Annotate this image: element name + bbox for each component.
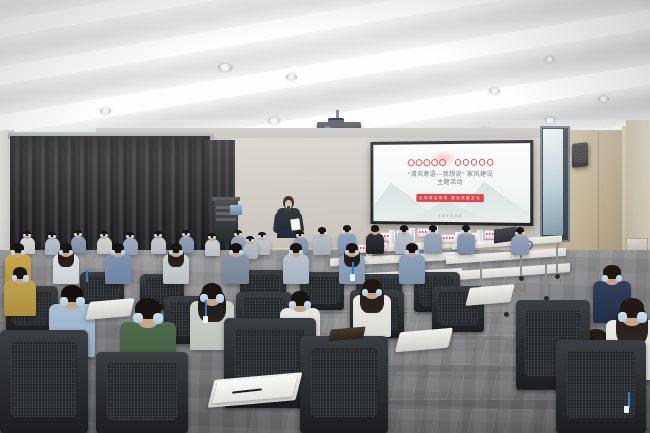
attendee-torso xyxy=(457,233,476,254)
face-mask xyxy=(133,313,143,324)
face-mask xyxy=(153,313,163,324)
face-mask xyxy=(12,275,17,281)
face-mask xyxy=(126,235,129,238)
mesh-office-chair xyxy=(0,330,88,433)
attendee-torso xyxy=(511,235,528,255)
attendee-torso xyxy=(151,237,166,254)
face-mask xyxy=(296,234,299,237)
attendee-torso xyxy=(97,237,112,254)
attendee-torso xyxy=(4,280,36,316)
attendee-torso xyxy=(366,233,385,254)
face-mask xyxy=(435,230,438,234)
face-mask xyxy=(154,234,157,237)
face-mask xyxy=(74,233,77,236)
chair-mesh xyxy=(107,362,177,420)
face-mask xyxy=(234,233,237,236)
face-mask xyxy=(289,301,296,309)
id-badge xyxy=(350,274,355,281)
id-badge xyxy=(624,406,629,413)
chair-writing-tablet xyxy=(465,284,514,306)
attendee-hair xyxy=(371,225,380,232)
face-mask xyxy=(618,312,627,322)
face-mask xyxy=(76,297,84,306)
attendee-torso xyxy=(105,254,131,284)
face-mask xyxy=(216,294,224,303)
chair-writing-tablet xyxy=(395,328,453,353)
mesh-office-chair xyxy=(300,336,388,433)
face-mask xyxy=(637,312,647,323)
attendee-torso xyxy=(399,254,425,284)
chair-mesh xyxy=(305,277,338,304)
attendee-torso xyxy=(424,233,443,254)
chair-mesh xyxy=(311,348,378,418)
face-mask xyxy=(23,275,29,281)
attendee-torso xyxy=(313,235,330,255)
mesh-office-chair xyxy=(96,352,188,433)
face-mask xyxy=(208,236,211,239)
mesh-office-chair xyxy=(556,340,646,433)
face-mask xyxy=(428,230,431,234)
face-mask xyxy=(349,230,352,234)
face-mask xyxy=(23,234,26,237)
id-badge xyxy=(203,316,208,323)
face-mask xyxy=(602,275,609,282)
face-mask xyxy=(362,289,369,296)
seated-attendees xyxy=(0,0,650,433)
face-mask xyxy=(246,239,249,242)
face-mask xyxy=(258,235,261,238)
face-mask xyxy=(342,230,345,234)
face-mask xyxy=(399,230,402,234)
attendee-torso xyxy=(283,254,309,284)
chair-writing-tablet xyxy=(85,298,134,320)
attendee-torso xyxy=(223,254,249,284)
face-mask xyxy=(406,230,409,234)
attendee-torso xyxy=(205,239,220,256)
face-mask xyxy=(100,234,103,237)
face-mask xyxy=(60,297,68,306)
face-mask xyxy=(461,230,464,234)
conference-room-photo: “清风寄语—我想说” 家风建设 主题活动 弘扬康洁家风 建设清廉文化 清廉家风建… xyxy=(0,0,650,433)
chair-mesh xyxy=(11,342,78,416)
attendee-torso xyxy=(45,238,60,255)
face-mask xyxy=(48,235,51,238)
lanyard xyxy=(86,270,88,282)
face-mask xyxy=(468,230,471,234)
face-mask xyxy=(182,233,185,236)
